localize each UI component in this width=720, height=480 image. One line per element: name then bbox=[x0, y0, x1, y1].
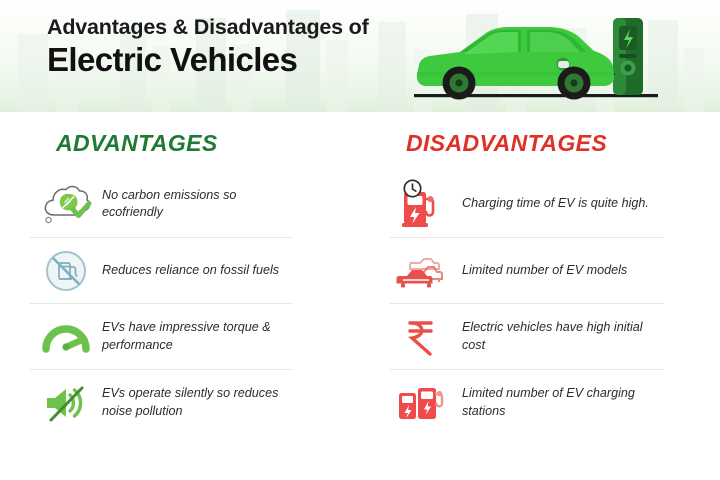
speedometer-gauge-icon bbox=[38, 311, 94, 363]
advantages-heading: ADVANTAGES bbox=[30, 130, 372, 157]
list-item-text: Charging time of EV is quite high. bbox=[448, 195, 649, 212]
list-item-text: Limited number of EV models bbox=[448, 262, 627, 279]
muted-speaker-icon bbox=[38, 377, 94, 429]
charging-stations-icon bbox=[392, 377, 448, 429]
header-banner: Advantages & Disadvantages of Electric V… bbox=[0, 0, 720, 112]
charging-pump-clock-icon bbox=[392, 178, 448, 230]
list-item-text: No carbon emissions so ecofriendly bbox=[94, 187, 293, 222]
advantages-list: No carbon emissions so ecofriendly bbox=[30, 171, 372, 435]
no-fuel-pump-icon bbox=[38, 245, 94, 297]
list-item: EVs operate silently so reduces noise po… bbox=[30, 369, 293, 435]
list-item-text: EVs have impressive torque & performance bbox=[94, 319, 293, 354]
title-line-1: Advantages & Disadvantages of bbox=[47, 16, 427, 39]
list-item-text: EVs operate silently so reduces noise po… bbox=[94, 385, 293, 420]
list-item: Charging time of EV is quite high. bbox=[390, 171, 664, 237]
disadvantages-list: Charging time of EV is quite high. bbox=[390, 171, 720, 435]
multiple-cars-icon bbox=[392, 245, 448, 297]
page-title: Advantages & Disadvantages of Electric V… bbox=[47, 16, 427, 79]
list-item: Limited number of EV models bbox=[390, 237, 664, 303]
cloud-leaf-check-icon bbox=[38, 178, 94, 230]
list-item-text: Electric vehicles have high initial cost bbox=[448, 319, 664, 354]
list-item: Electric vehicles have high initial cost bbox=[390, 303, 664, 369]
disadvantages-heading: DISADVANTAGES bbox=[390, 130, 720, 157]
list-item-text: Reduces reliance on fossil fuels bbox=[94, 262, 279, 279]
electric-car-charging-icon bbox=[408, 2, 674, 110]
rupee-symbol-icon bbox=[392, 311, 448, 363]
list-item: No carbon emissions so ecofriendly bbox=[30, 171, 293, 237]
list-item: Reduces reliance on fossil fuels bbox=[30, 237, 293, 303]
advantages-column: ADVANTAGES No carbon emissions so ecofri… bbox=[0, 112, 372, 480]
list-item: Limited number of EV charging stations bbox=[390, 369, 664, 435]
list-item-text: Limited number of EV charging stations bbox=[448, 385, 664, 420]
title-line-2: Electric Vehicles bbox=[47, 42, 427, 79]
list-item: EVs have impressive torque & performance bbox=[30, 303, 293, 369]
content-area: ADVANTAGES No carbon emissions so ecofri… bbox=[0, 112, 720, 480]
disadvantages-column: DISADVANTAGES Charging time of EV bbox=[372, 112, 720, 480]
